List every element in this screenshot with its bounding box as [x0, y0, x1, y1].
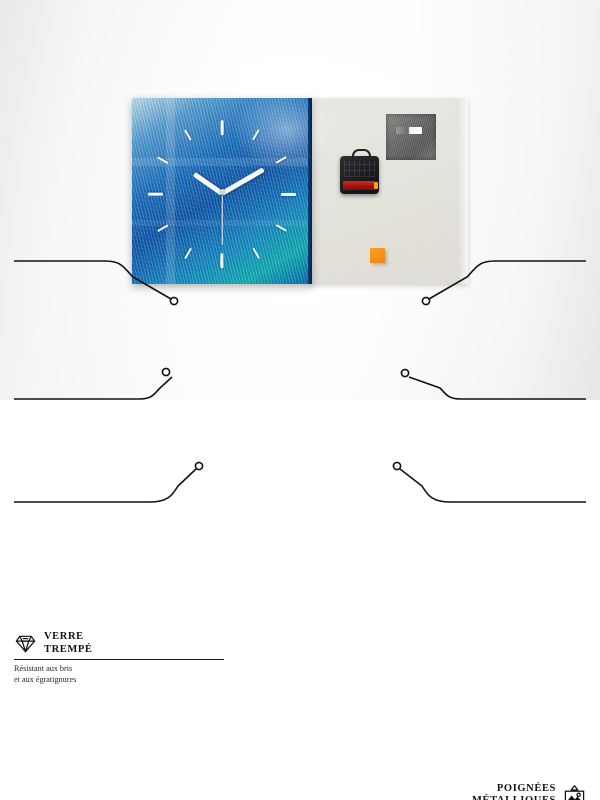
foam-spacer-part — [370, 248, 385, 263]
metal-hanger-plate — [386, 114, 436, 160]
clock-tick — [221, 120, 224, 135]
clock-tick — [252, 247, 260, 258]
glass-highlight — [233, 87, 341, 173]
feature-desc-line1: Résistant aux bris — [14, 664, 224, 675]
clock-hour-hand — [193, 171, 224, 195]
glass-edge — [308, 98, 312, 284]
feature-header: VERRE TREMPÉ — [14, 631, 224, 656]
infographic-canvas: VERRE TREMPÉ Résistant aux bris et aux é… — [0, 0, 600, 400]
clock-tick — [281, 193, 296, 196]
feature-header: POIGNÉES MÉTALLIQUES — [376, 783, 586, 800]
clock-tick — [148, 193, 163, 196]
battery — [343, 181, 375, 190]
product-illustration — [132, 98, 468, 284]
feature-poignees-metalliques[interactable]: POIGNÉES MÉTALLIQUES Facilite le montage… — [376, 783, 586, 800]
picture-hanger-icon — [563, 784, 586, 800]
clock-center-cap — [220, 189, 225, 194]
clock-tick — [184, 247, 192, 258]
clock-mechanism — [340, 156, 379, 194]
mechanism-texture — [344, 161, 375, 177]
diamond-icon — [14, 632, 37, 655]
print-pattern-vertical — [166, 98, 175, 284]
mechanism-hanging-loop — [352, 149, 371, 161]
clock-second-hand — [221, 193, 222, 245]
feature-desc-line2: et aux égratignures — [14, 675, 224, 686]
clock-front-panel — [132, 98, 312, 284]
clock-tick — [221, 253, 224, 268]
feature-title-line2: TREMPÉ — [44, 644, 93, 657]
feature-title-line2: MÉTALLIQUES — [472, 795, 556, 800]
clock-tick — [184, 129, 192, 140]
hanger-slot — [396, 127, 422, 134]
feature-title-line1: VERRE — [44, 631, 93, 644]
feature-verre-trempe[interactable]: VERRE TREMPÉ Résistant aux bris et aux é… — [14, 631, 224, 685]
feature-title-line1: POIGNÉES — [472, 783, 556, 796]
feature-divider — [14, 659, 224, 660]
